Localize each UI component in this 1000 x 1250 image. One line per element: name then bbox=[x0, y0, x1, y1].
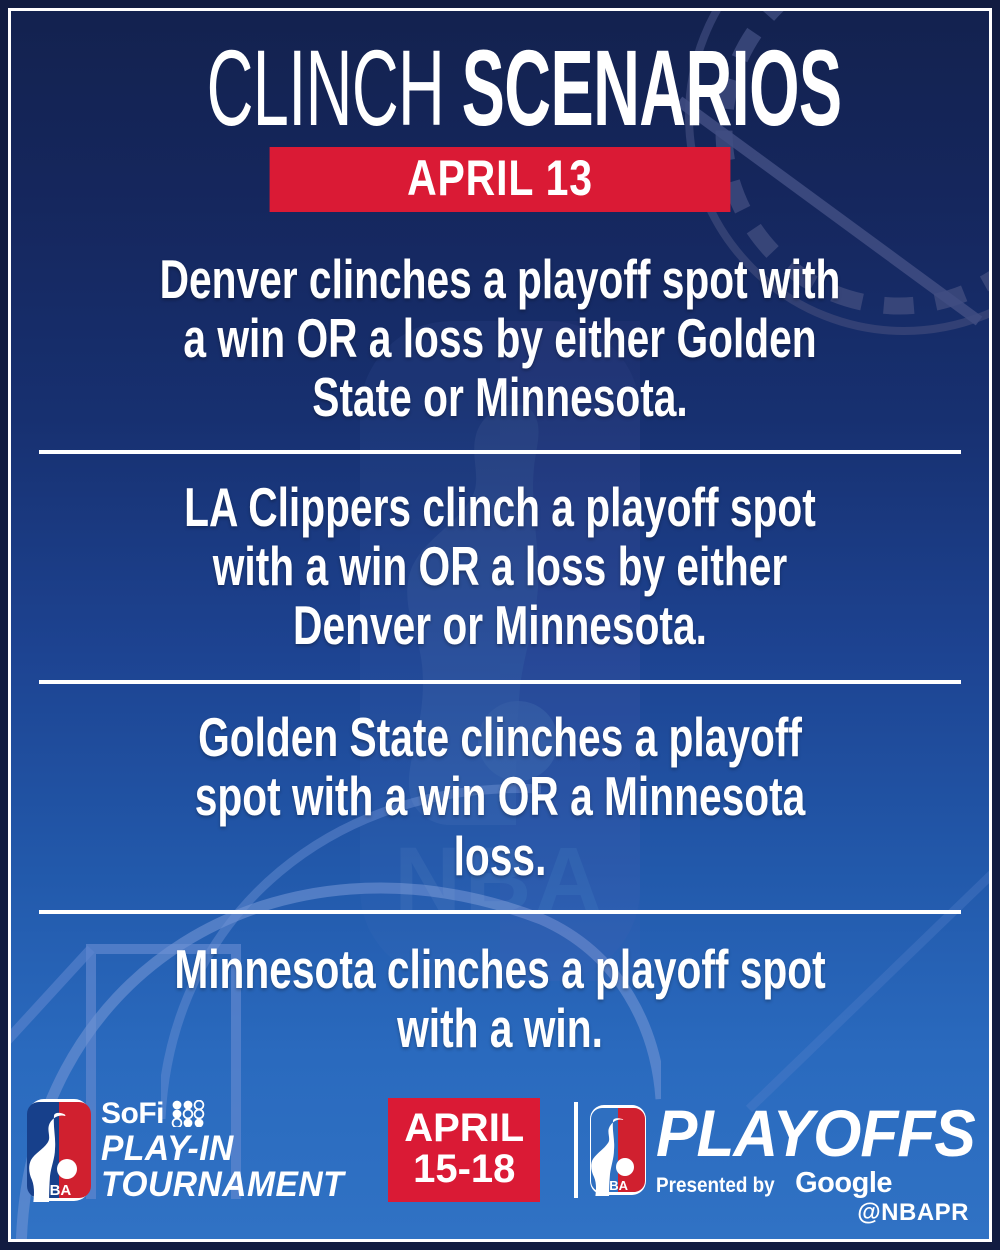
graphic-canvas: NBA CLINCH SCENARIOS APRIL 13 Denver cli… bbox=[11, 11, 989, 1239]
divider bbox=[39, 910, 961, 914]
title-word-clinch: CLINCH bbox=[207, 27, 445, 148]
playin-line-1: PLAY-IN bbox=[101, 1131, 344, 1166]
svg-text:NBA: NBA bbox=[39, 1182, 72, 1199]
social-handle: @NBAPR bbox=[857, 1199, 969, 1227]
presented-by-label: Presented by bbox=[656, 1174, 775, 1198]
playin-tournament-wordmark: PLAY-IN TOURNAMENT bbox=[101, 1131, 344, 1202]
scenario-minnesota: Minnesota clinches a playoff spot with a… bbox=[138, 914, 862, 1069]
april-dates-badge: APRIL 15-18 bbox=[388, 1098, 540, 1202]
divider bbox=[39, 450, 961, 454]
vertical-rule bbox=[574, 1102, 578, 1198]
date-banner: APRIL 13 bbox=[270, 147, 731, 212]
nba-playoffs-lockup: NBA PLAYOFFS Presented by Google bbox=[574, 1102, 989, 1198]
google-wordmark: Google bbox=[795, 1169, 892, 1198]
playin-line-2: TOURNAMENT bbox=[101, 1167, 344, 1202]
sofi-playin-lockup: NBA SoFi bbox=[27, 1098, 354, 1202]
sofi-wordmark: SoFi bbox=[101, 1099, 164, 1129]
footer: NBA SoFi bbox=[11, 1061, 989, 1239]
nba-logo-icon: NBA bbox=[589, 1104, 647, 1196]
nba-logo-icon: NBA bbox=[27, 1098, 91, 1202]
april-badge-line-2: 15-18 bbox=[404, 1149, 524, 1190]
title-word-scenarios: SCENARIOS bbox=[462, 27, 842, 148]
scenarios-list: Denver clinches a playoff spot with a wi… bbox=[11, 234, 989, 1069]
scenario-denver: Denver clinches a playoff spot with a wi… bbox=[138, 234, 862, 450]
page-title: CLINCH SCENARIOS bbox=[207, 37, 794, 139]
sofi-dots-icon bbox=[171, 1100, 207, 1127]
sofi-playin-text: SoFi bbox=[101, 1099, 354, 1202]
svg-text:NBA: NBA bbox=[600, 1178, 629, 1193]
clinch-scenarios-graphic: NBA CLINCH SCENARIOS APRIL 13 Denver cli… bbox=[0, 0, 1000, 1250]
divider bbox=[39, 680, 961, 684]
scenario-golden-state: Golden State clinches a playoff spot wit… bbox=[138, 684, 862, 910]
april-badge-line-1: APRIL bbox=[404, 1108, 524, 1149]
playoffs-text-block: PLAYOFFS Presented by Google bbox=[656, 1102, 989, 1197]
playoffs-wordmark: PLAYOFFS bbox=[656, 1102, 975, 1165]
presented-by-row: Presented by Google bbox=[656, 1169, 989, 1198]
header: CLINCH SCENARIOS APRIL 13 bbox=[11, 11, 989, 212]
scenario-la-clippers: LA Clippers clinch a playoff spot with a… bbox=[138, 454, 862, 680]
sofi-row: SoFi bbox=[101, 1099, 354, 1129]
